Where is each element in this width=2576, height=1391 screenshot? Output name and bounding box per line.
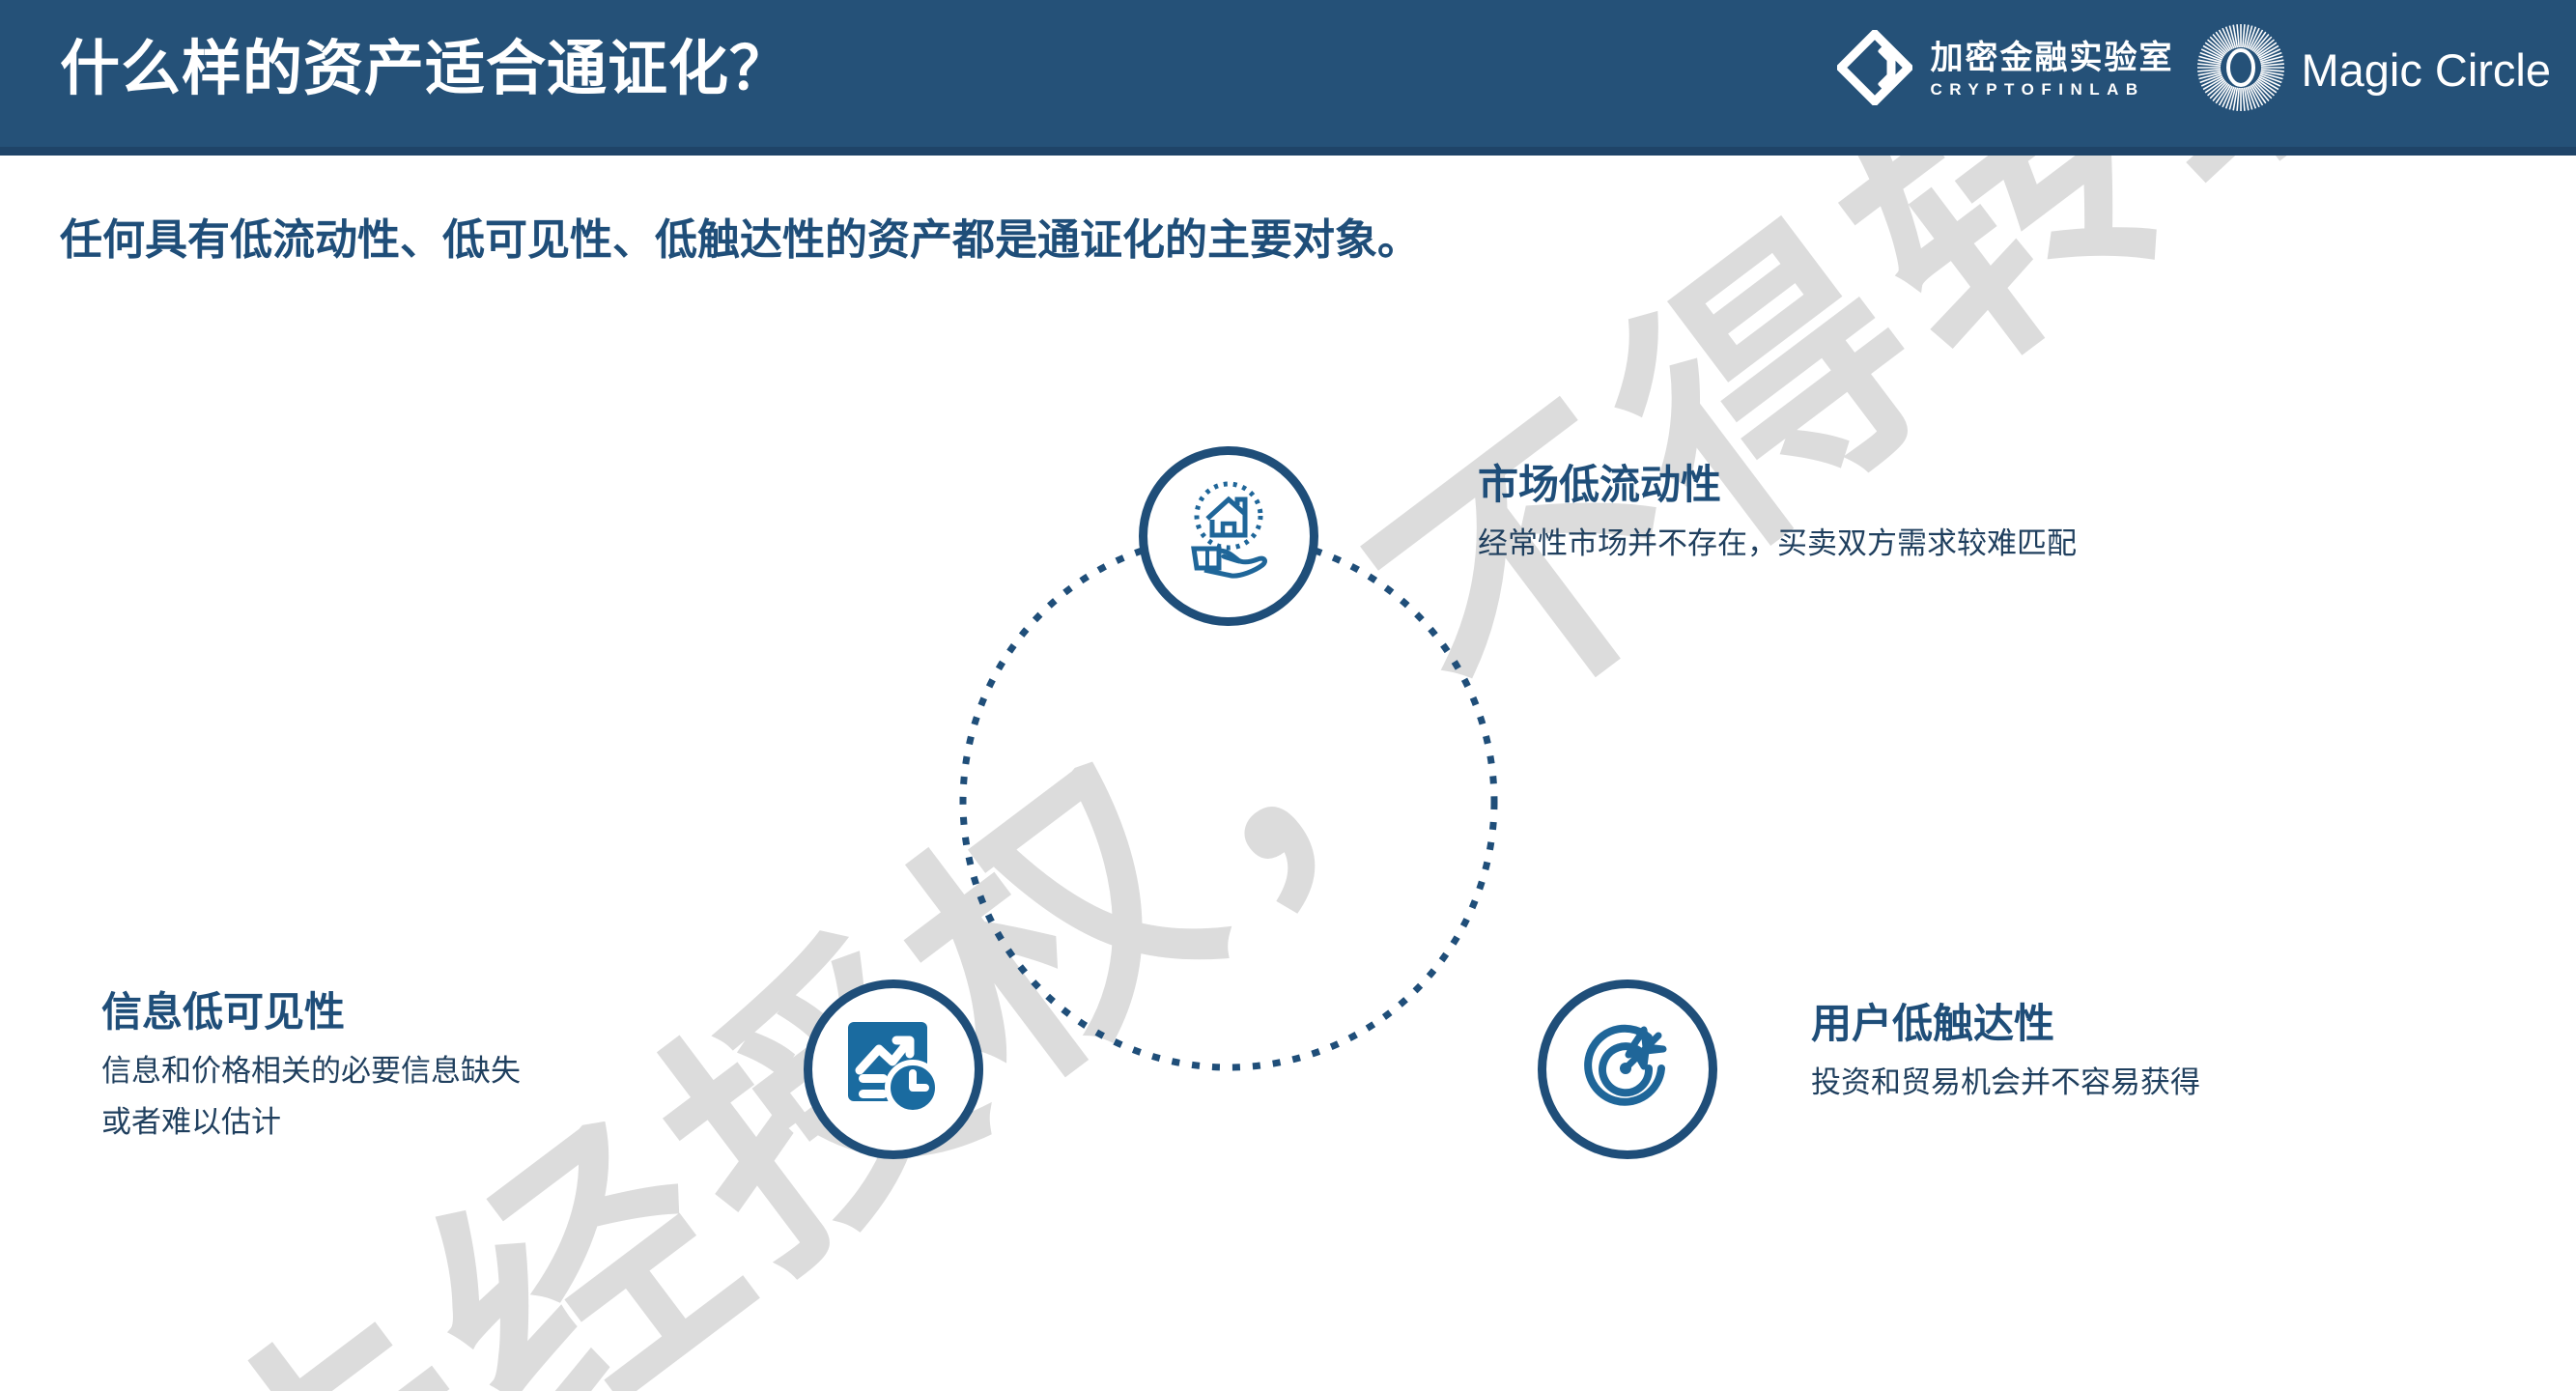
node-heading: 信息低可见性 (101, 989, 521, 1036)
node-user-reach (1538, 979, 1717, 1159)
node-information-visibility (804, 979, 983, 1159)
node-body-line: 或者难以估计 (101, 1100, 521, 1146)
slide-canvas: 未经授权，不得转载 什么样的资产适合通证化？ 加密金融实验室 CRYPTOFIN… (0, 0, 2576, 1391)
header-underline (0, 147, 2576, 156)
target-arrow-icon (1569, 1008, 1686, 1131)
diamond-logo-icon (1837, 30, 1912, 110)
text-block-user-reach: 用户低触达性 投资和贸易机会并不容易获得 (1811, 1001, 2200, 1106)
cryptofinlab-wordmark: 加密金融实验室 CRYPTOFINLAB (1930, 42, 2173, 98)
cryptofinlab-logo: 加密金融实验室 CRYPTOFINLAB (1837, 30, 2173, 110)
node-body-line: 经常性市场并不存在，买卖双方需求较难匹配 (1478, 522, 2077, 567)
node-body-line: 信息和价格相关的必要信息缺失 (101, 1049, 521, 1094)
subtitle: 任何具有低流动性、低可见性、低触达性的资产都是通证化的主要对象。 (60, 205, 1420, 267)
node-heading: 市场低流动性 (1478, 462, 2077, 508)
magic-circle-logo: Magic Circle (2194, 21, 2551, 119)
cryptofinlab-name-cn: 加密金融实验室 (1930, 42, 2173, 74)
chart-clock-icon (836, 1010, 950, 1129)
page-title: 什么样的资产适合通证化？ (60, 19, 790, 106)
node-market-liquidity (1139, 446, 1318, 626)
cryptofinlab-name-en: CRYPTOFINLAB (1930, 81, 2173, 98)
text-block-market-liquidity: 市场低流动性 经常性市场并不存在，买卖双方需求较难匹配 (1478, 462, 2077, 567)
magic-circle-wordmark: Magic Circle (2301, 43, 2551, 97)
text-block-information-visibility: 信息低可见性 信息和价格相关的必要信息缺失 或者难以估计 (101, 989, 521, 1145)
logo-group: 加密金融实验室 CRYPTOFINLAB Magic Circle (1837, 14, 2551, 126)
hand-holding-house-icon (1168, 473, 1289, 600)
node-heading: 用户低触达性 (1811, 1001, 2200, 1047)
node-body-line: 投资和贸易机会并不容易获得 (1811, 1061, 2200, 1106)
circle-burst-logo-icon (2194, 21, 2287, 119)
